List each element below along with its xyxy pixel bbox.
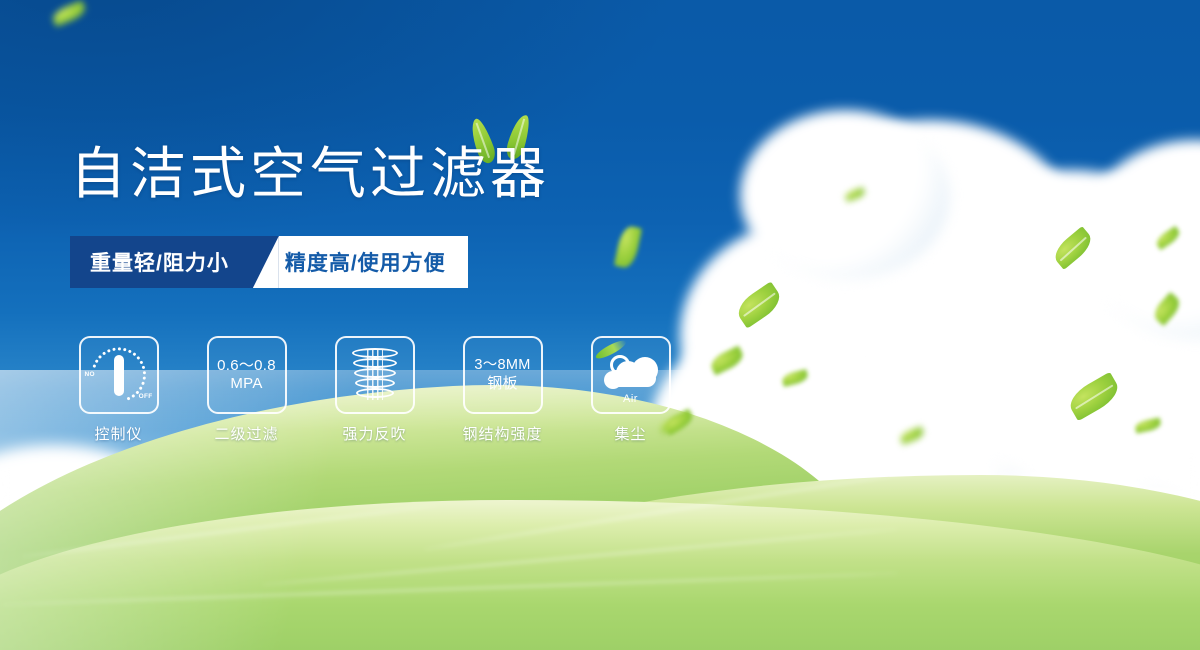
cloud-air-icon: Air (600, 347, 662, 403)
feature-icon-box: NO OFF (79, 336, 159, 414)
subtitle-bar: 重量轻/阻力小 精度高/使用方便 (70, 236, 468, 288)
steel-plate-label: 钢板 (487, 375, 518, 393)
subtitle-left: 重量轻/阻力小 (70, 236, 253, 288)
feature-label: 强力反吹 (342, 423, 406, 444)
gauge-needle-icon (114, 355, 124, 396)
feature-icon-box: 3～8MM 钢板 (463, 336, 543, 414)
feature-label: 集尘 (614, 423, 646, 444)
gauge-on-label: NO (85, 371, 95, 378)
feature-item-dust-collection[interactable]: Air 集尘 (582, 336, 679, 444)
subtitle-wedge-divider (253, 236, 279, 288)
gauge-dial-icon: NO OFF (88, 346, 150, 404)
feature-icon-row: NO OFF 控制仪 0.6～0.8 MPA 二级过滤 (70, 336, 679, 444)
pressure-unit-value: MPA (230, 375, 262, 393)
product-hero-banner: 自洁式空气过滤器 重量轻/阻力小 精度高/使用方便 (0, 0, 1200, 650)
feature-item-steel-strength[interactable]: 3～8MM 钢板 钢结构强度 (454, 336, 551, 444)
feature-item-two-stage-filter[interactable]: 0.6～0.8 MPA 二级过滤 (198, 336, 295, 444)
feature-icon-box: Air (591, 336, 671, 414)
gauge-off-label: OFF (139, 393, 153, 400)
coil-spring-icon (349, 346, 401, 404)
feature-icon-box (335, 336, 415, 414)
pressure-range-value: 0.6～0.8 (217, 357, 276, 375)
air-caption: Air (600, 393, 662, 405)
feature-label: 钢结构强度 (462, 423, 542, 444)
subtitle-right: 精度高/使用方便 (279, 236, 468, 288)
page-title: 自洁式空气过滤器 (70, 146, 550, 202)
feature-item-blowback[interactable]: 强力反吹 (326, 336, 423, 444)
steel-thickness-value: 3～8MM (474, 357, 530, 374)
feature-label: 控制仪 (94, 423, 142, 444)
feature-icon-box: 0.6～0.8 MPA (207, 336, 287, 414)
feature-label: 二级过滤 (214, 423, 278, 444)
feature-item-controller[interactable]: NO OFF 控制仪 (70, 336, 167, 444)
